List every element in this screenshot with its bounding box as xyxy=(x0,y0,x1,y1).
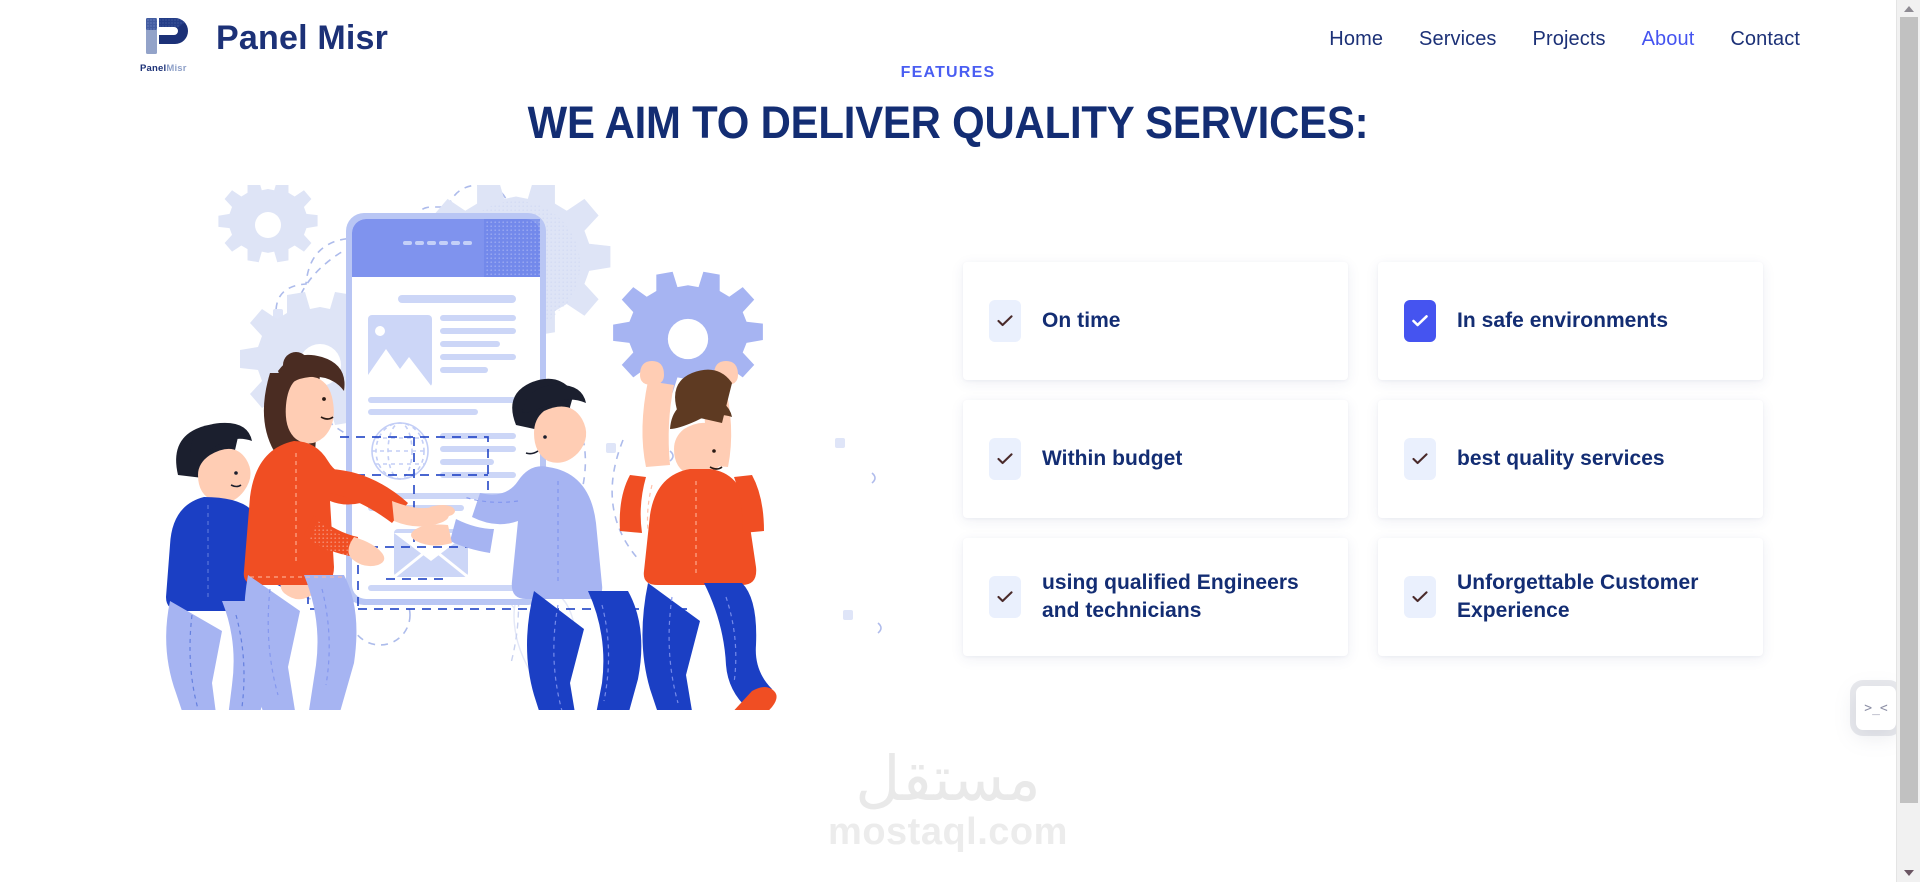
check-icon-on-time[interactable] xyxy=(989,300,1021,342)
feature-card-on-time[interactable]: On time xyxy=(963,262,1348,380)
check-icon-best-quality-services[interactable] xyxy=(1404,438,1436,480)
kaomoji-face-icon: >_< xyxy=(1864,701,1887,716)
feature-label: using qualified Engineers and technician… xyxy=(1042,569,1312,625)
vertical-scrollbar[interactable] xyxy=(1896,0,1920,882)
feature-label: In safe environments xyxy=(1457,307,1668,335)
chat-launcher[interactable]: >_< xyxy=(1856,686,1896,730)
nav-item-home[interactable]: Home xyxy=(1329,28,1383,51)
page-title: WE AIM TO DELIVER QUALITY SERVICES: xyxy=(66,97,1829,149)
check-icon-unforgettable-customer-experience[interactable] xyxy=(1404,576,1436,618)
brand-wordmark: Panel Misr xyxy=(216,21,388,61)
feature-label: Unforgettable Customer Experience xyxy=(1457,569,1727,625)
feature-label: Within budget xyxy=(1042,445,1182,473)
feature-card-within-budget[interactable]: Within budget xyxy=(963,400,1348,518)
watermark-latin: mostaql.com xyxy=(0,812,1896,854)
scroll-up-arrow-icon[interactable] xyxy=(1897,0,1920,18)
nav-item-services[interactable]: Services xyxy=(1419,28,1497,51)
feature-card-in-safe-environments[interactable]: In safe environments xyxy=(1378,262,1763,380)
mostaql-watermark: مستقل mostaql.com xyxy=(0,748,1896,854)
check-icon-in-safe-environments[interactable] xyxy=(1404,300,1436,342)
nav-item-about[interactable]: About xyxy=(1642,28,1695,51)
features-grid: On time In safe environments Within budg… xyxy=(963,262,1763,656)
main-navigation: Home Services Projects About Contact xyxy=(1329,28,1800,51)
team-collaboration-gears-illustration xyxy=(118,185,938,710)
feature-label: best quality services xyxy=(1457,445,1665,473)
feature-card-unforgettable-customer-experience[interactable]: Unforgettable Customer Experience xyxy=(1378,538,1763,656)
check-icon-using-qualified-engineers[interactable] xyxy=(989,576,1021,618)
watermark-arabic: مستقل xyxy=(0,748,1896,810)
check-icon-within-budget[interactable] xyxy=(989,438,1021,480)
nav-item-contact[interactable]: Contact xyxy=(1730,28,1800,51)
feature-card-using-qualified-engineers[interactable]: using qualified Engineers and technician… xyxy=(963,538,1348,656)
feature-card-best-quality-services[interactable]: best quality services xyxy=(1378,400,1763,518)
brand-logo[interactable]: PanelMisr Panel Misr xyxy=(138,10,388,72)
scroll-down-arrow-icon[interactable] xyxy=(1897,864,1920,882)
panel-misr-logo-icon: PanelMisr xyxy=(138,10,202,72)
nav-item-projects[interactable]: Projects xyxy=(1533,28,1606,51)
scrollbar-thumb[interactable] xyxy=(1900,17,1918,803)
section-eyebrow: FEATURES xyxy=(0,64,1896,82)
page-root: PanelMisr Panel Misr Home Services Proje… xyxy=(0,0,1920,882)
feature-label: On time xyxy=(1042,307,1121,335)
